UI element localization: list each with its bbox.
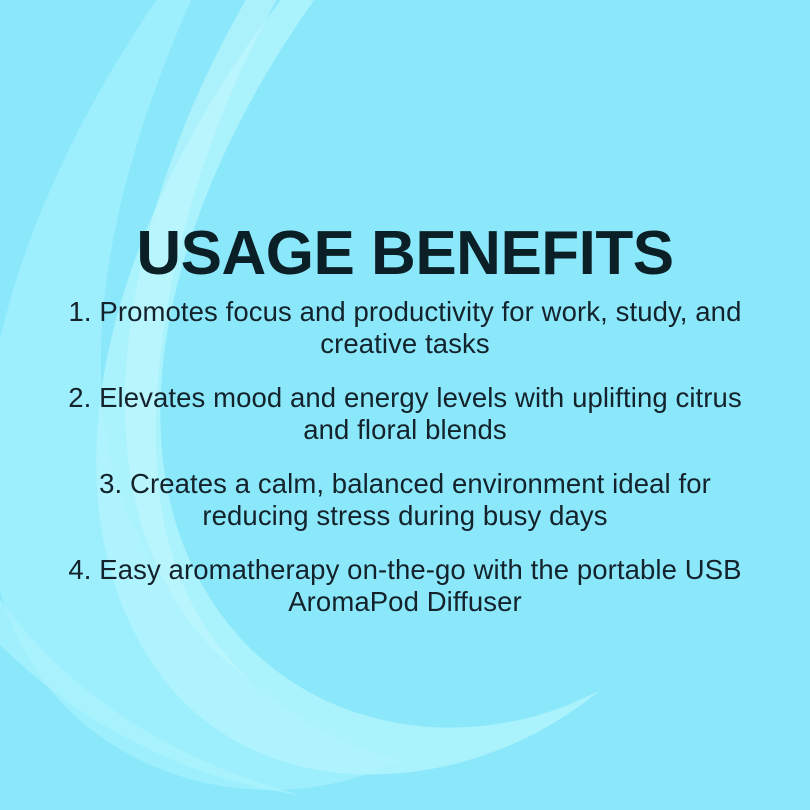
list-item: 3. Creates a calm, balanced environment … [65,468,745,533]
list-item-number: 1. [69,296,92,327]
slide-content: USAGE BENEFITS 1. Promotes focus and pro… [0,0,810,810]
list-item-number: 3. [99,468,122,499]
list-item-number: 2. [68,382,91,413]
list-item-text: Creates a calm, balanced environment ide… [130,468,711,531]
page-title: USAGE BENEFITS [0,223,810,285]
list-item-number: 4. [68,554,91,585]
list-item: 4. Easy aromatherapy on-the-go with the … [65,554,745,619]
list-item: 1. Promotes focus and productivity for w… [65,296,745,361]
benefits-list: 1. Promotes focus and productivity for w… [65,296,745,619]
list-item: 2. Elevates mood and energy levels with … [65,382,745,447]
list-item-text: Elevates mood and energy levels with upl… [99,382,742,445]
list-item-text: Promotes focus and productivity for work… [99,296,741,359]
usage-benefits-slide: USAGE BENEFITS 1. Promotes focus and pro… [0,0,810,810]
list-item-text: Easy aromatherapy on-the-go with the por… [99,554,741,617]
